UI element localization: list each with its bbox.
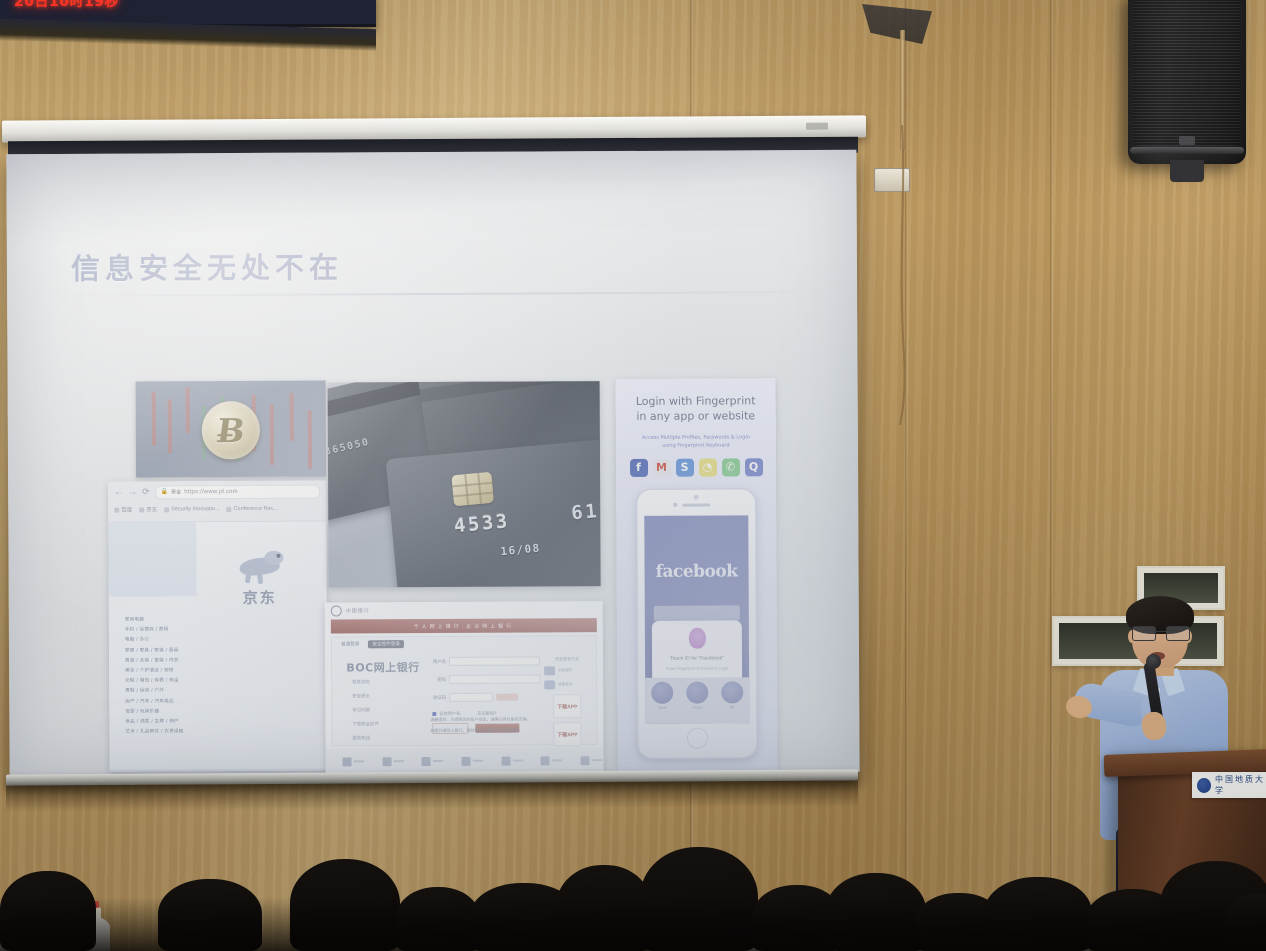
bitcoin-symbol: Ƀ	[214, 411, 247, 450]
service-icon-payment[interactable]	[501, 756, 523, 765]
password-input[interactable]	[449, 674, 540, 683]
field-username: 用户名	[432, 656, 540, 666]
jd-logo: 京东	[216, 550, 302, 608]
username-input[interactable]	[449, 656, 540, 665]
phone-earpiece-icon	[682, 504, 710, 507]
jd-brand-text: 京东	[217, 587, 303, 608]
profile-item[interactable]: Home	[686, 682, 708, 710]
slide-title-rule	[35, 291, 825, 297]
url-text: https://www.jd.com	[184, 489, 238, 495]
tab-secure-control-login[interactable]: 安全控件登录	[368, 640, 404, 648]
slide-image-bank-login: 中国银行 个人网上银行·企业网上银行 普通登录 安全控件登录 BOC网上银行 登…	[325, 601, 604, 774]
headline-line-2: in any app or website	[624, 409, 768, 425]
help-link[interactable]: 服务热线	[352, 735, 378, 741]
help-link[interactable]: 下载安全控件	[352, 721, 378, 727]
bank-login-card: 普通登录 安全控件登录 BOC网上银行 登录须知 安全提示 常见问题 下载安全控…	[331, 635, 598, 746]
headline-line-1: Login with Fingerprint	[624, 394, 768, 410]
service-icon-investment[interactable]	[461, 756, 483, 765]
touch-id-title: Touch ID for "Facebook"	[670, 655, 724, 661]
lectern-university-sign: 中国地质大学	[1192, 772, 1266, 798]
slide-image-bitcoin: Ƀ	[136, 381, 327, 478]
gmail-icon: M	[652, 458, 670, 476]
service-icon-account[interactable]	[382, 757, 404, 766]
lock-icon: 🔒	[161, 488, 169, 495]
foreground-shadow	[0, 897, 1266, 951]
card-embossed-number: 3365050	[328, 437, 371, 460]
fingerprint-headline: Login with Fingerprint in any app or web…	[624, 394, 768, 424]
address-bar[interactable]: 🔒 安全 https://www.jd.com	[155, 484, 321, 499]
facebook-wordmark: facebook	[645, 561, 749, 582]
checkbox-icon[interactable]	[432, 712, 436, 716]
bank-name-text: 中国银行	[346, 607, 370, 614]
bank-banner: 个人网上银行·企业网上银行	[331, 618, 597, 633]
subline-1: Access Multiple Profiles, Passwords & Lo…	[626, 433, 766, 442]
category-item[interactable]: 美妆 / 个护清洁 / 宠物	[125, 669, 253, 674]
slide-image-fingerprint-login: Login with Fingerprint in any app or web…	[616, 378, 778, 771]
bookmarks-bar: 百度 京东 Security Innovatio... Conference R…	[114, 502, 320, 517]
help-link[interactable]: 安全提示	[352, 693, 378, 699]
touch-id-subtitle: Scan Fingerprint to Reveal & Login	[666, 665, 728, 670]
skype-icon: S	[675, 458, 693, 476]
jd-mascot-dog-icon	[233, 550, 285, 584]
email-field[interactable]	[654, 605, 740, 620]
bookmark-item[interactable]: Conference Rec...	[227, 506, 278, 512]
category-item[interactable]: 家居 / 家具 / 家装 / 厨具	[125, 649, 253, 654]
bank-side-panel: 安全登录方式 手机银行 智能柜台 下载APP 下载APP	[544, 656, 590, 748]
smartphone-mockup: facebook Touch ID for "Facebook" Scan Fi…	[636, 488, 757, 759]
slide-image-credit-cards: 3365050 4533 6127 16/08	[328, 381, 601, 587]
category-item[interactable]: 男鞋 / 运动 / 户外	[125, 689, 253, 694]
bank-brand-block: BOC网上银行	[346, 659, 420, 675]
glasses-bridge	[1154, 631, 1166, 632]
side-panel-item[interactable]: 手机银行	[544, 666, 590, 675]
jd-footer-bar	[110, 769, 328, 772]
fingerprint-subheadline: Access Multiple Profiles, Passwords & Lo…	[626, 433, 766, 450]
category-item[interactable]: 房产 / 汽车 / 汽车用品	[125, 699, 253, 704]
whatsapp-icon: ✆	[721, 458, 739, 476]
side-panel-title: 安全登录方式	[544, 656, 590, 662]
qr-code-icon-2: 下载APP	[553, 722, 581, 746]
category-item[interactable]: 手机 / 运营商 / 数码	[125, 628, 253, 633]
avatar	[721, 681, 743, 703]
phone-front-camera-icon	[694, 495, 699, 500]
browser-toolbar: ← → ⟳ 🔒 安全 https://www.jd.com	[114, 484, 320, 500]
category-item[interactable]: 母婴 / 玩具乐器	[125, 710, 253, 715]
profile-item[interactable]: Work	[651, 682, 673, 710]
jd-page-body: 京东 家用电器 手机 / 运营商 / 数码 电脑 / 办公 家居 / 家具 / …	[108, 522, 327, 772]
slide-image-jd-browser: ← → ⟳ 🔒 安全 https://www.jd.com 百度 京东 Secu…	[108, 481, 328, 772]
service-icon-credit-card[interactable]	[422, 756, 444, 765]
card-number-group-2: 6127	[570, 497, 600, 524]
back-icon[interactable]: ←	[114, 488, 123, 497]
supported-apps-row: f M S ◔ ✆ Q	[616, 458, 776, 477]
projection-screen: 信息安全无处不在 Ƀ	[6, 150, 859, 776]
help-link[interactable]: 登录须知	[352, 679, 378, 685]
qr-code-icon: 下载APP	[553, 694, 581, 718]
bank-header: 中国银行	[325, 601, 603, 618]
username-label: 用户名	[432, 658, 446, 664]
lecture-hall-scene: 20日10时19秒 信息安全无处不在	[0, 0, 1266, 951]
captcha-input[interactable]	[449, 693, 493, 702]
microphone-head-icon	[1146, 654, 1161, 669]
speaker-grill	[1133, 0, 1241, 146]
category-item[interactable]: 女鞋 / 箱包 / 钟表 / 珠宝	[125, 679, 253, 684]
forward-icon[interactable]: →	[128, 488, 137, 497]
field-password: 密码	[432, 674, 540, 684]
eyeglasses-icon	[1132, 626, 1188, 639]
university-seal-icon	[1197, 778, 1211, 793]
bookmark-item[interactable]: 京东	[139, 505, 157, 513]
side-panel-item[interactable]: 智能柜台	[544, 680, 590, 689]
screen-drop-shadow	[6, 780, 858, 811]
led-marquee-text: 20日10时19秒	[14, 0, 119, 11]
category-item[interactable]: 艺术 / 礼品鲜花 / 农资绿植	[125, 730, 253, 735]
bank-logo-icon	[331, 605, 342, 616]
service-icon-transfer[interactable]	[342, 757, 364, 766]
subline-2: using Fingerprint Keyboard	[626, 441, 766, 450]
speaker-lip	[1130, 147, 1244, 154]
bitcoin-coin-icon: Ƀ	[202, 401, 260, 459]
presentation-slide: 信息安全无处不在 Ƀ	[35, 228, 828, 772]
phone-sensor-icon	[673, 503, 677, 507]
speaker-bracket	[1170, 160, 1204, 182]
snapchat-icon: ◔	[698, 458, 716, 476]
bank-banner-text: 个人网上银行·企业网上银行	[414, 622, 515, 630]
profile-switcher: Work Home Alt	[645, 677, 749, 724]
tab-normal-login[interactable]: 普通登录	[337, 640, 363, 648]
bank-help-links: 登录须知 安全提示 常见问题 下载安全控件 服务热线	[352, 679, 379, 749]
facebook-icon: f	[629, 459, 647, 477]
field-captcha: 验证码	[432, 692, 540, 702]
password-label: 密码	[432, 676, 446, 682]
avatar	[651, 682, 673, 704]
home-button-icon[interactable]	[687, 728, 708, 749]
fingerprint-icon	[688, 628, 705, 649]
avatar	[686, 682, 708, 704]
browser-chrome: ← → ⟳ 🔒 安全 https://www.jd.com 百度 京东 Secu…	[108, 481, 326, 523]
reload-icon[interactable]: ⟳	[142, 487, 150, 496]
lens-right	[1166, 626, 1190, 641]
wall-loudspeaker	[1128, 0, 1246, 164]
bookmark-item[interactable]: 百度	[114, 506, 132, 514]
category-item[interactable]: 男装 / 女装 / 童装 / 内衣	[125, 659, 253, 664]
service-icon-more[interactable]	[581, 756, 603, 765]
slide-title: 信息安全无处不在	[71, 244, 343, 287]
card-expiry-date: 16/08	[500, 542, 541, 559]
captcha-image[interactable]	[496, 694, 518, 701]
category-item[interactable]: 食品 / 酒类 / 生鲜 / 特产	[125, 720, 253, 725]
card-number-group-1: 4533	[453, 510, 511, 537]
lens-left	[1132, 626, 1156, 641]
credit-card-front: 4533 6127 16/08	[386, 436, 601, 587]
search-app-icon: Q	[744, 458, 762, 476]
captcha-label: 验证码	[432, 694, 446, 700]
bookmark-item[interactable]: Security Innovatio...	[164, 506, 219, 512]
housing-brand-icon	[806, 123, 828, 130]
smart-counter-icon	[544, 680, 555, 689]
bank-brand-text: BOC网上银行	[346, 659, 420, 675]
hanging-cable	[862, 125, 922, 425]
bank-login-tabs: 普通登录 安全控件登录	[332, 636, 596, 651]
university-name-text: 中国地质大学	[1215, 774, 1266, 796]
profile-item[interactable]: Alt	[721, 681, 743, 709]
speaker-badge-icon	[1179, 136, 1195, 145]
jd-category-list: 家用电器 手机 / 运营商 / 数码 电脑 / 办公 家居 / 家具 / 家装 …	[125, 618, 254, 741]
mobile-bank-icon	[544, 666, 555, 675]
service-icon-loan[interactable]	[541, 756, 563, 765]
help-link[interactable]: 常见问题	[352, 707, 378, 713]
category-item[interactable]: 电脑 / 办公	[125, 638, 253, 643]
secure-label: 安全	[171, 488, 181, 495]
jd-sidebar-panel	[108, 522, 196, 596]
category-item[interactable]: 家用电器	[125, 618, 253, 623]
emv-chip-icon	[451, 472, 494, 507]
